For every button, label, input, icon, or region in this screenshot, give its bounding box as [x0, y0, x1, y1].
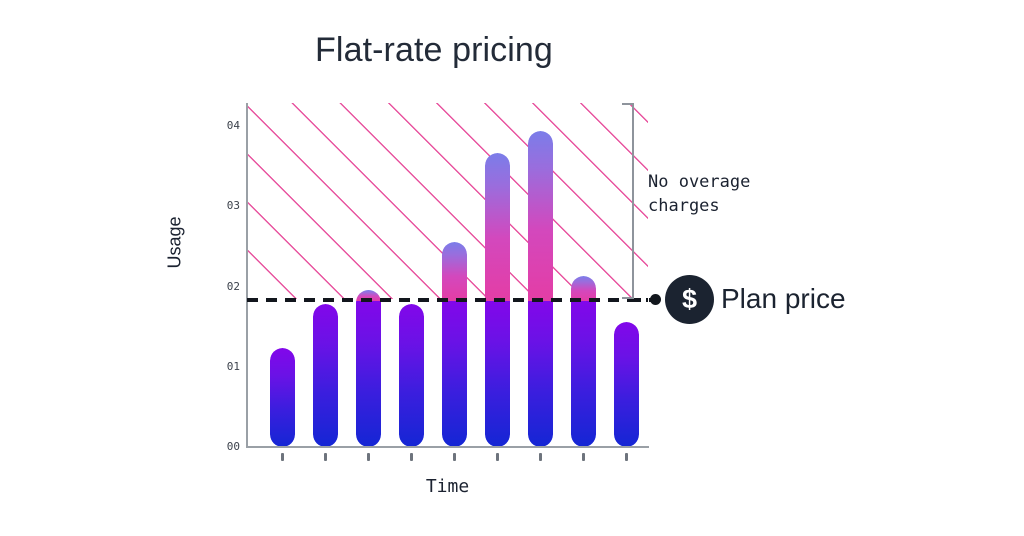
x-tick-mark	[281, 453, 284, 461]
x-tick-mark	[625, 453, 628, 461]
page-title: Flat-rate pricing	[0, 31, 868, 70]
bar[interactable]	[399, 304, 424, 447]
bar-included-segment	[399, 304, 424, 447]
y-tick-label: 03	[202, 199, 240, 212]
plan-price-threshold-line	[247, 298, 648, 302]
x-tick-mark	[453, 453, 456, 461]
bar-overage-segment	[442, 242, 467, 301]
x-tick-mark	[410, 453, 413, 461]
bar-included-segment	[614, 322, 639, 447]
y-axis-spine	[246, 103, 248, 447]
bar-included-segment	[356, 301, 381, 447]
x-tick-mark	[582, 453, 585, 461]
x-axis-spine	[246, 446, 649, 448]
x-tick-mark	[367, 453, 370, 461]
bar-included-segment	[528, 301, 553, 447]
plan-price-label: Plan price	[721, 283, 846, 315]
bar[interactable]	[356, 290, 381, 447]
plan-price-anchor-dot	[650, 294, 661, 305]
bar-included-segment	[313, 304, 338, 447]
bar-overage-segment	[485, 153, 510, 302]
x-tick-mark	[324, 453, 327, 461]
overage-annotation-line-2: charges	[648, 194, 838, 218]
bar[interactable]	[313, 304, 338, 447]
bar[interactable]	[442, 242, 467, 447]
y-tick-label: 01	[202, 360, 240, 373]
y-tick-label: 00	[202, 440, 240, 453]
overage-annotation: No overage charges	[648, 170, 838, 218]
bar[interactable]	[528, 131, 553, 447]
plot-area	[247, 103, 648, 447]
bar-included-segment	[270, 348, 295, 447]
y-tick-labels: 0001020304	[194, 0, 240, 536]
x-tick-mark	[496, 453, 499, 461]
x-axis-title: Time	[247, 476, 648, 497]
y-tick-label: 04	[202, 119, 240, 132]
dollar-badge-icon: $	[665, 275, 714, 324]
bar[interactable]	[614, 322, 639, 447]
dollar-sign-glyph: $	[682, 286, 697, 313]
x-tick-mark	[539, 453, 542, 461]
overage-bracket	[622, 103, 634, 299]
chart-canvas: Flat-rate pricing 0001020304 Usage Time …	[0, 0, 1024, 536]
overage-annotation-line-1: No overage	[648, 170, 838, 194]
y-tick-label: 02	[202, 280, 240, 293]
bar[interactable]	[270, 348, 295, 447]
y-axis-title: Usage	[165, 239, 186, 269]
bar-overage-segment	[528, 131, 553, 301]
bar-included-segment	[485, 301, 510, 447]
bar-included-segment	[571, 301, 596, 447]
bar-included-segment	[442, 301, 467, 447]
